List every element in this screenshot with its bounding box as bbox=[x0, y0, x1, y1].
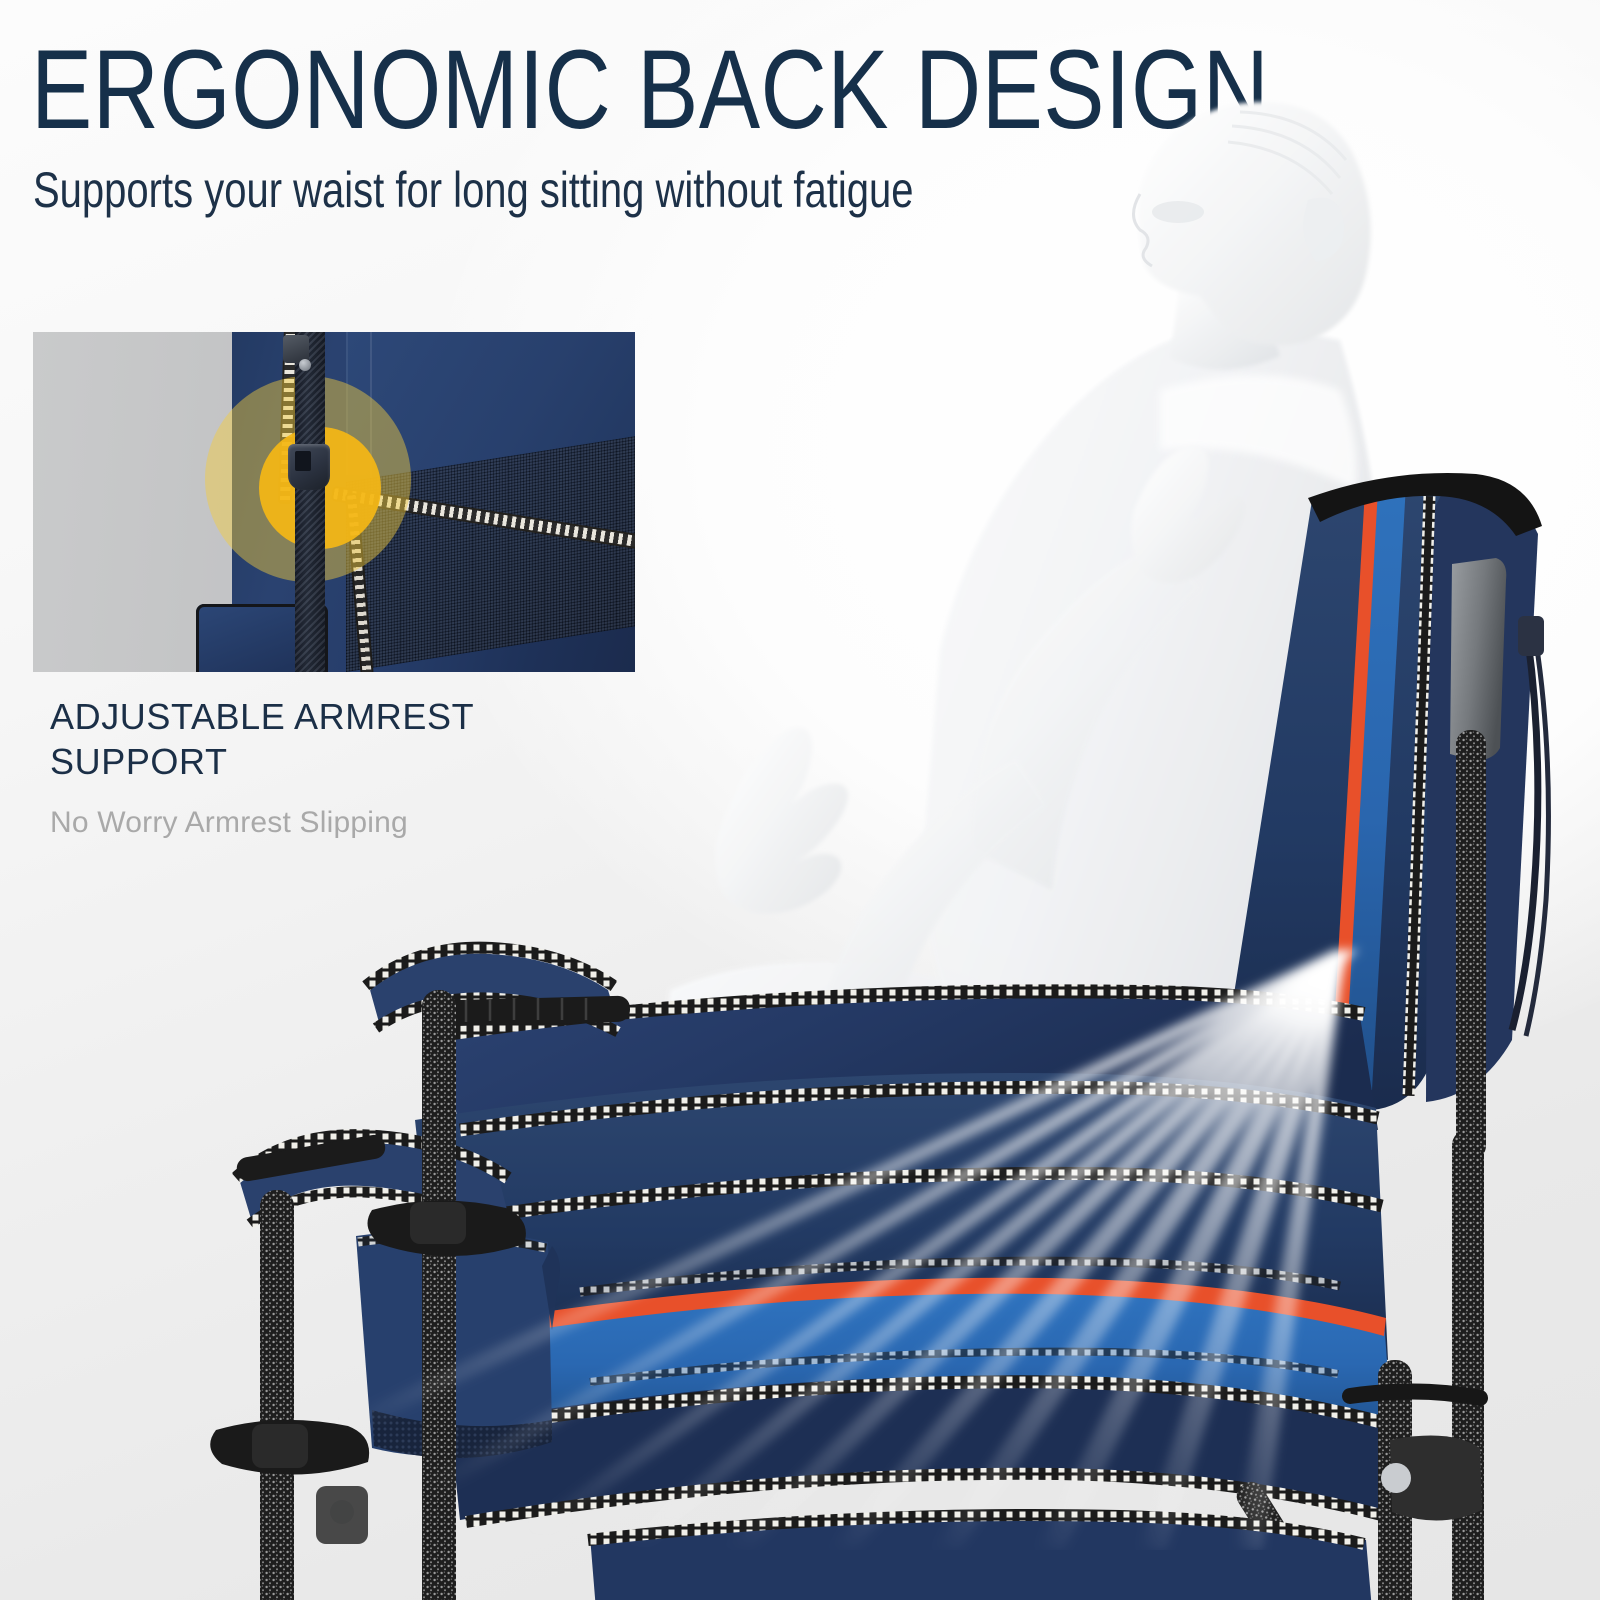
chair-under-shelf bbox=[588, 1511, 1372, 1600]
armrest-adjustment-clip bbox=[1450, 558, 1506, 760]
frame-leg-front-far bbox=[422, 990, 456, 1600]
frame-leg-rear-right-2 bbox=[1452, 1130, 1484, 1600]
camping-chair-product bbox=[160, 430, 1600, 1600]
product-feature-poster: ERGONOMIC BACK DESIGN Supports your wais… bbox=[0, 0, 1600, 1600]
mannequin-eye bbox=[1152, 201, 1204, 223]
armrest-grip-pad bbox=[440, 996, 631, 1027]
cup-holder-pouch bbox=[356, 1230, 560, 1458]
chair-illustration bbox=[160, 430, 1600, 1600]
chair-armrest-far bbox=[366, 948, 630, 1032]
frame-leg-front-near bbox=[260, 1190, 294, 1600]
chair-seat bbox=[415, 991, 1400, 1522]
